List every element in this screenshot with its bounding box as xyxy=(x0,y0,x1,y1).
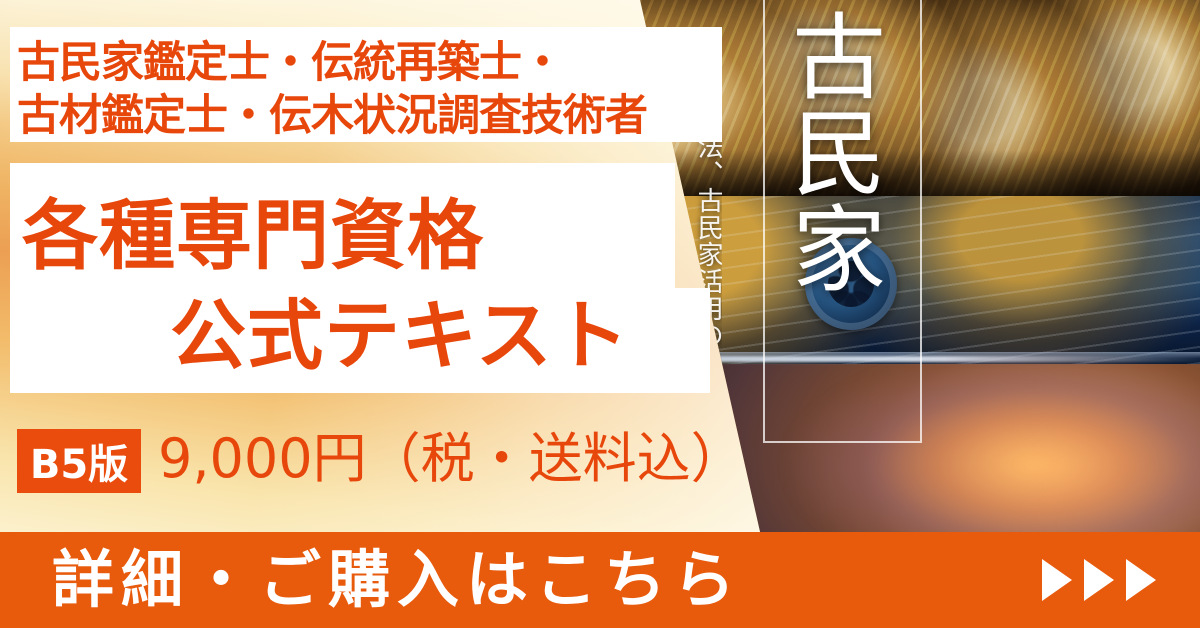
headline-line-1: 各種専門資格 xyxy=(22,198,484,274)
cta-bar[interactable]: 詳細・ご購入はこちら xyxy=(0,532,1200,628)
cta-arrows xyxy=(1042,559,1156,601)
qualification-line-1: 古民家鑑定士・伝統再築士・ xyxy=(17,42,563,85)
chevron-right-icon xyxy=(1084,559,1114,601)
cover-title: 古民家 xyxy=(788,8,892,296)
headline-line-2: 公式テキスト xyxy=(170,298,630,374)
price-text: 9,000円（税・送料込） xyxy=(158,432,745,486)
chevron-right-icon xyxy=(1126,559,1156,601)
chevron-right-icon xyxy=(1042,559,1072,601)
format-badge: B5版 xyxy=(17,429,141,493)
qualification-line-2: 古材鑑定士・伝木状況調査技術者 xyxy=(17,95,647,138)
promo-banner: 古民家 伝統構法、古民家活用のための調査と再生の 古民家鑑定士・伝統再築士・ 古… xyxy=(0,0,1200,628)
cta-label: 詳細・ご購入はこちら xyxy=(52,549,742,611)
